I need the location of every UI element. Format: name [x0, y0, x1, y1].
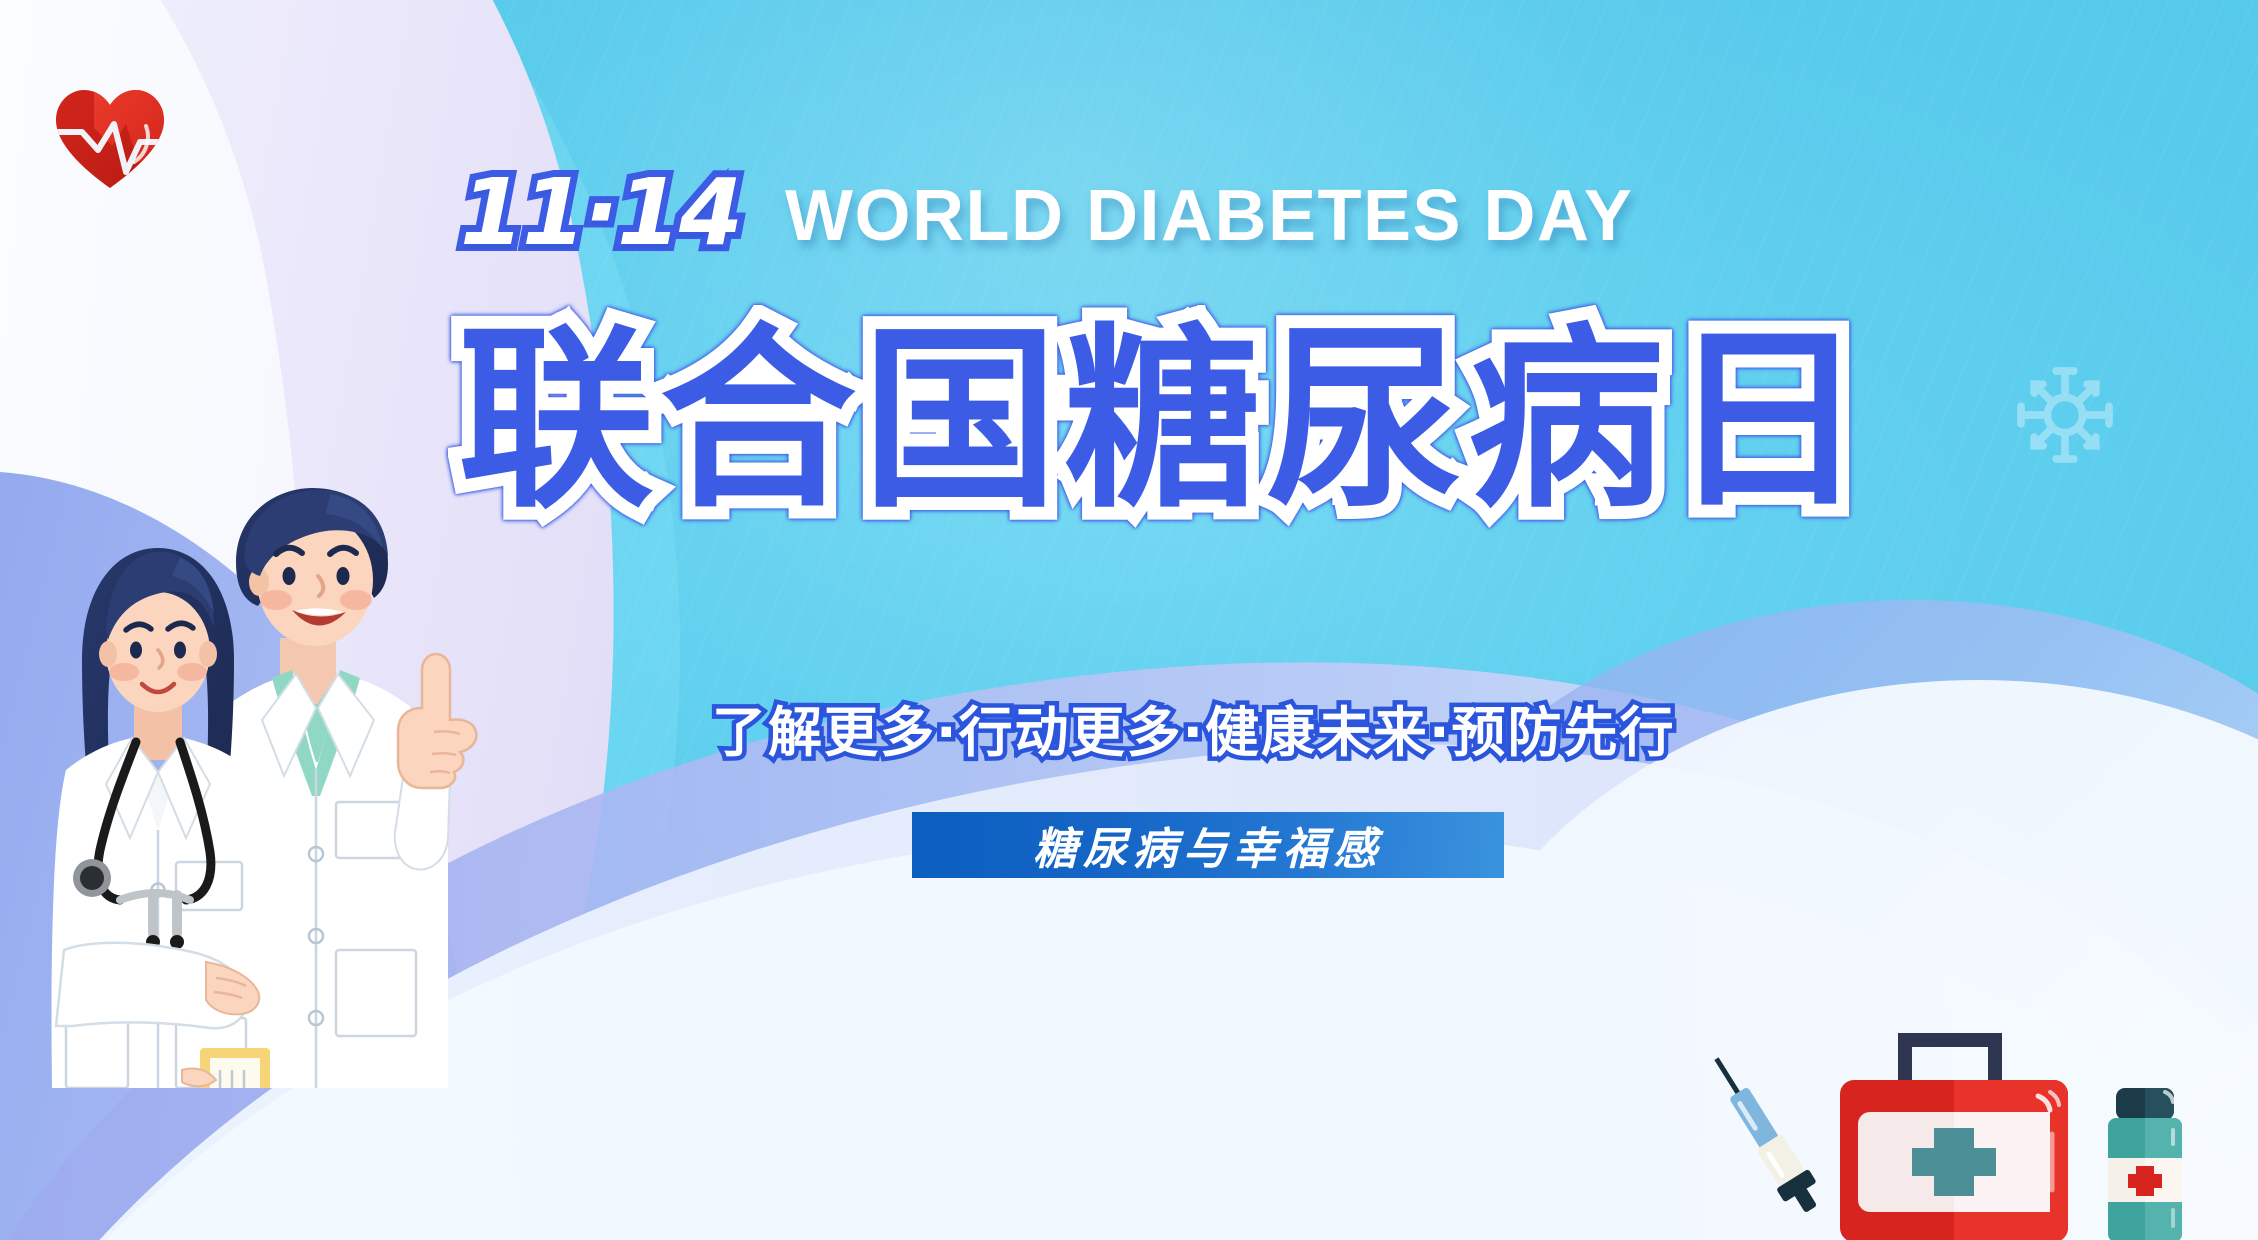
heart-pulse-icon: [50, 80, 170, 200]
tagline-text: 糖尿病与幸福感: [1033, 813, 1383, 877]
syringe-icon: [1701, 1048, 1828, 1219]
english-title: WORLD DIABETES DAY: [785, 180, 1633, 258]
medicine-bottle-icon: [2108, 1088, 2182, 1240]
subtitle-slogan: 了解更多·行动更多·健康未来·预防先行: [712, 688, 1676, 767]
world-diabetes-day-banner: 11·14 WORLD DIABETES DAY 联合国糖尿病日 了解更多·行动…: [0, 0, 2258, 1240]
germ-decoration-icon: [2010, 360, 2120, 470]
first-aid-kit-icon: [1840, 1033, 2068, 1240]
two-doctors-illustration: [30, 470, 510, 1110]
tagline-bar: 糖尿病与幸福感: [912, 812, 1504, 878]
date-badge: 11·14: [460, 168, 741, 258]
main-title: 联合国糖尿病日: [458, 318, 1938, 526]
medical-items-group: [1680, 1030, 2240, 1240]
headline-row: 11·14 WORLD DIABETES DAY: [460, 168, 1633, 258]
